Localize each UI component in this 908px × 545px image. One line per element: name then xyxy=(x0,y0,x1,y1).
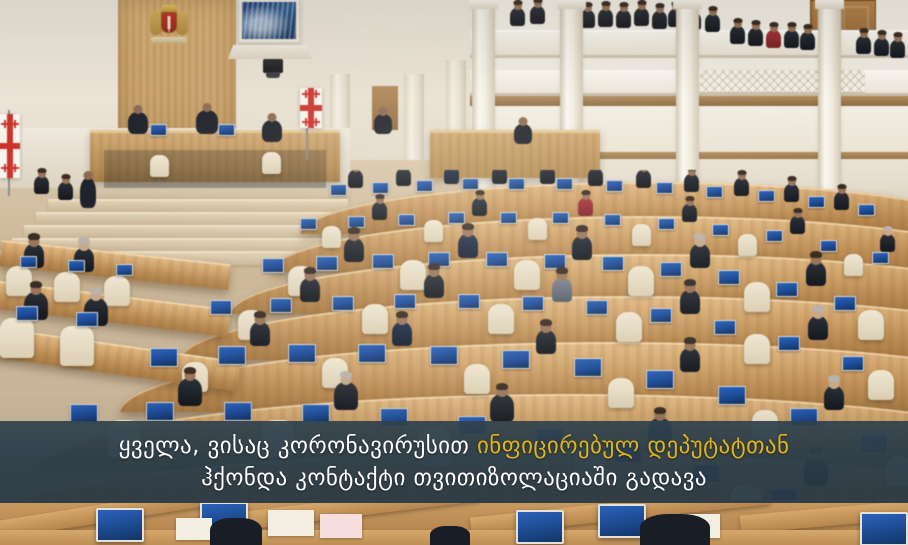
deputy-chair xyxy=(514,260,540,290)
desk-monitor xyxy=(458,294,480,309)
deputy xyxy=(572,236,592,260)
desk-monitor xyxy=(68,260,85,272)
desk-monitor xyxy=(574,358,602,377)
deputy-chair xyxy=(464,364,490,394)
desk-monitor xyxy=(500,212,517,224)
desk-monitor xyxy=(522,296,544,311)
foreground-monitor xyxy=(860,512,908,545)
foreground-papers xyxy=(320,514,362,538)
balcony-spectator xyxy=(634,8,649,26)
presiding-official xyxy=(374,114,392,134)
foreground-deputy xyxy=(640,514,710,545)
desk-monitor xyxy=(16,306,38,321)
desk-monitor xyxy=(778,336,800,351)
deputy xyxy=(490,394,514,422)
deputy xyxy=(372,202,387,220)
deputy-chair xyxy=(744,282,770,312)
desk-monitor xyxy=(486,252,508,267)
desk-monitor xyxy=(718,270,740,285)
flag-cross-icon xyxy=(312,90,320,98)
desk-monitor xyxy=(606,180,623,192)
desk-monitor xyxy=(300,218,317,230)
desk-monitor xyxy=(416,180,433,192)
desk-monitor xyxy=(602,256,624,271)
deputy xyxy=(880,234,895,252)
deputy-chair xyxy=(738,234,757,256)
desk-monitor xyxy=(650,308,672,323)
desk-monitor xyxy=(808,196,825,208)
deputy xyxy=(348,170,363,188)
presiding-official xyxy=(196,110,218,134)
deputy xyxy=(636,170,651,188)
desk-monitor xyxy=(146,402,174,421)
balcony-spectator xyxy=(730,26,745,44)
secretariat-staff xyxy=(514,124,532,144)
deputy xyxy=(684,174,699,192)
georgia-coat-of-arms-icon xyxy=(147,4,191,44)
deputy xyxy=(680,290,700,314)
desk-monitor xyxy=(372,254,394,269)
balcony-spectator xyxy=(616,10,631,28)
desk-monitor xyxy=(586,300,608,315)
deputy xyxy=(472,198,487,216)
shield-icon xyxy=(161,12,177,33)
desk-monitor xyxy=(394,294,416,309)
deputy xyxy=(250,322,270,346)
desk-monitor xyxy=(646,370,674,389)
deputy xyxy=(392,322,412,346)
desk-monitor xyxy=(714,320,736,335)
deputy-chair xyxy=(628,266,654,296)
deputy xyxy=(552,278,572,302)
desk-monitor xyxy=(224,402,252,421)
deputy-chair xyxy=(424,220,443,242)
flag-cross-icon xyxy=(302,118,310,126)
deputy-chair xyxy=(608,378,634,408)
deputy-chair xyxy=(844,254,863,276)
desk-monitor xyxy=(218,346,246,365)
deputy-chair xyxy=(322,226,341,248)
foreground-desks-strip xyxy=(0,500,908,545)
deputy xyxy=(334,382,358,410)
desk-monitor xyxy=(834,296,856,311)
balcony-spectator xyxy=(784,30,799,48)
balcony-spectator xyxy=(510,8,525,26)
deputy-chair xyxy=(858,310,884,340)
balcony-spectator xyxy=(530,6,545,24)
desk-monitor xyxy=(76,312,98,327)
deputy-chair xyxy=(632,224,651,246)
desk-monitor xyxy=(660,262,682,277)
balcony-column xyxy=(676,0,699,192)
desk-monitor xyxy=(658,218,675,230)
desk-monitor xyxy=(316,256,338,271)
deputy-chair xyxy=(744,334,770,364)
desk-monitor xyxy=(502,350,530,369)
caption-line-1: ყველა, ვისაც კორონავირუსით ინფიცირებულ დ… xyxy=(119,431,790,461)
georgian-flag-left xyxy=(0,114,20,178)
deputy xyxy=(300,278,320,302)
desk-monitor xyxy=(766,230,783,242)
desk-monitor xyxy=(20,256,37,268)
deputy xyxy=(578,198,593,216)
deputy xyxy=(806,262,826,286)
caption-line-1-plain: ყველა, ვისაც კორონავირუსით xyxy=(119,433,477,459)
desk-monitor xyxy=(270,298,292,313)
foreground-deputy xyxy=(210,518,262,545)
heraldic-lion-right-icon xyxy=(176,11,188,35)
caption-line-2: ჰქონდა კონტაქტი თვითიზოლაციაში გადავა xyxy=(201,463,707,493)
screen-shelf xyxy=(228,45,312,59)
crown-icon xyxy=(161,5,177,12)
foreground-monitor xyxy=(598,504,646,538)
desk-monitor xyxy=(858,204,875,216)
deputy xyxy=(784,184,799,202)
deputy xyxy=(824,386,844,410)
deputy xyxy=(680,348,700,372)
screenshot-root: ყველა, ვისაც კორონავირუსით ინფიცირებულ დ… xyxy=(0,0,908,545)
flag-cross-icon xyxy=(1,120,9,128)
foreground-monitor xyxy=(96,508,144,542)
balcony-spectator xyxy=(598,9,613,27)
deputy xyxy=(808,316,828,340)
deputy xyxy=(790,216,805,234)
balcony-spectator xyxy=(705,14,720,32)
desk-monitor xyxy=(556,178,573,190)
desk-monitor xyxy=(776,282,798,297)
deputy-chair xyxy=(104,276,130,306)
balcony-spectator xyxy=(766,30,781,48)
deputy-chair xyxy=(528,218,547,240)
deputy xyxy=(690,244,710,268)
foreground-papers xyxy=(268,510,314,536)
desk-monitor xyxy=(712,224,729,236)
foreground-papers xyxy=(176,518,212,540)
wall-display-screen xyxy=(238,0,300,43)
balcony-spectator xyxy=(652,11,667,29)
pilaster xyxy=(404,74,424,174)
desk-monitor xyxy=(552,212,569,224)
deputy xyxy=(178,378,202,406)
desk-monitor xyxy=(332,296,354,311)
motto-scroll-icon xyxy=(151,37,187,43)
desk-monitor xyxy=(604,214,621,226)
desk-monitor xyxy=(150,348,178,367)
balcony-spectator xyxy=(800,32,815,50)
deputy-chair xyxy=(488,304,514,334)
flag-cross-icon xyxy=(312,118,320,126)
desk-monitor xyxy=(820,240,837,252)
desk-monitor xyxy=(656,182,673,194)
foreground-deputy xyxy=(430,526,470,545)
caption-banner: ყველა, ვისაც კორონავირუსით ინფიცირებულ დ… xyxy=(0,421,908,503)
deputy xyxy=(734,178,749,196)
desk-monitor xyxy=(718,386,746,405)
deputy xyxy=(588,170,603,186)
deputy xyxy=(682,204,697,222)
presidium-monitor xyxy=(150,124,167,136)
deputy-chair xyxy=(616,312,642,342)
deputy xyxy=(536,330,556,354)
desk-monitor xyxy=(508,178,525,190)
balcony-spectator xyxy=(856,36,871,54)
deputy-chair xyxy=(400,260,426,290)
deputy xyxy=(424,274,444,298)
desk-monitor xyxy=(758,190,775,202)
deputy-chair xyxy=(362,304,388,334)
caption-line-1-highlight: ინფიცირებულ დეპუტატთან xyxy=(477,433,789,459)
deputy xyxy=(344,238,364,262)
ceiling-speaker-icon xyxy=(263,59,283,73)
screen-live-feed xyxy=(242,2,296,39)
deputy xyxy=(834,192,849,210)
deputy xyxy=(492,170,507,184)
deputy-chair xyxy=(868,370,894,400)
desk-monitor xyxy=(842,356,864,371)
desk-monitor xyxy=(448,212,465,224)
deputy-chair xyxy=(54,272,80,302)
deputy-chair xyxy=(6,266,32,296)
desk-monitor xyxy=(430,346,458,365)
foreground-monitor xyxy=(516,510,564,544)
balcony-spectator xyxy=(890,40,905,58)
georgian-flag-rostrum xyxy=(300,88,322,128)
flag-cross-icon xyxy=(302,90,310,98)
desk-monitor xyxy=(288,344,316,363)
desk-monitor xyxy=(116,264,133,276)
desk-monitor xyxy=(358,344,386,363)
desk-monitor xyxy=(872,252,889,264)
desk-monitor xyxy=(262,258,284,273)
deputy xyxy=(396,170,411,186)
balcony-spectator xyxy=(874,38,889,56)
desk-monitor xyxy=(398,214,415,226)
deputy-chair xyxy=(0,318,34,358)
desk-monitor xyxy=(210,300,232,315)
desk-monitor xyxy=(330,184,347,196)
desk-monitor xyxy=(706,186,723,198)
deputy xyxy=(458,234,478,258)
presiding-official xyxy=(128,112,148,134)
desk-monitor xyxy=(372,182,389,194)
presidium-monitor xyxy=(218,124,235,136)
flag-cross-icon xyxy=(11,120,19,128)
balcony-spectator xyxy=(748,28,763,46)
presiding-official xyxy=(262,120,282,142)
deputy xyxy=(540,170,555,184)
balcony-column xyxy=(818,0,841,192)
desk-monitor xyxy=(348,216,365,228)
deputy-chair xyxy=(60,326,94,366)
deputy xyxy=(444,170,459,184)
desk-monitor xyxy=(462,178,479,190)
